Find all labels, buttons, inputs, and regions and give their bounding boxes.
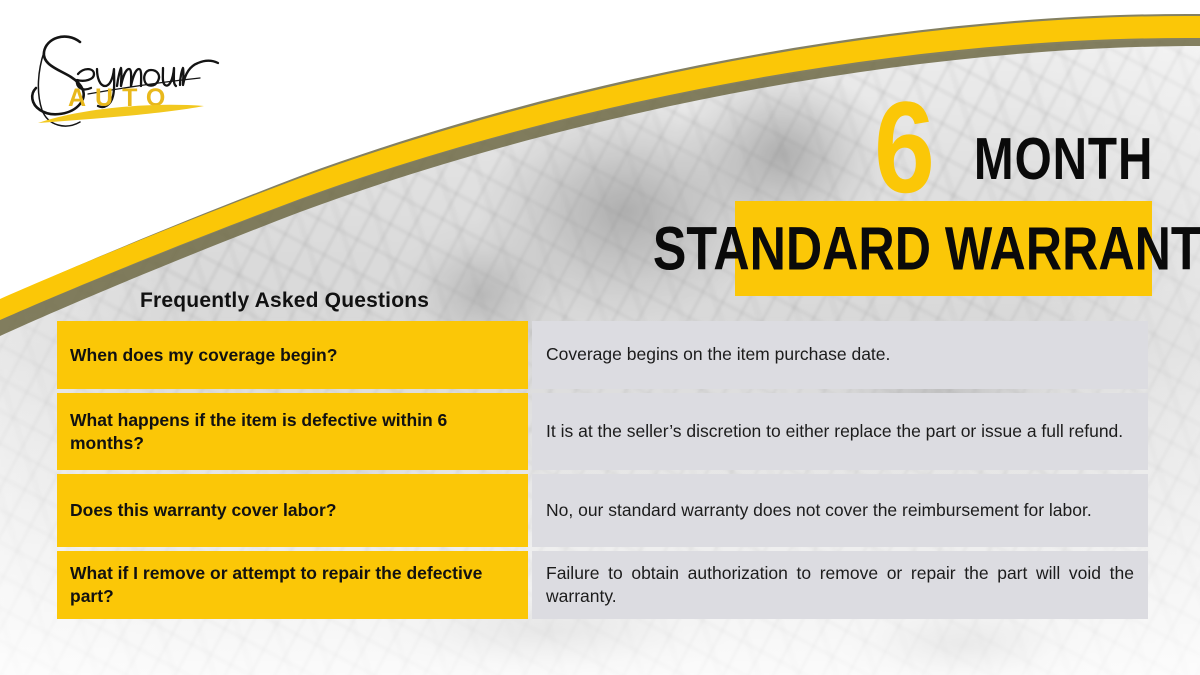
duration-number: 6 xyxy=(874,95,932,199)
standard-warranty-banner: STANDARD WARRANTY xyxy=(735,201,1152,296)
faq-answer-text: Failure to obtain authorization to remov… xyxy=(546,562,1134,608)
seymour-auto-logo[interactable]: AUTO xyxy=(22,22,232,134)
faq-table: When does my coverage begin? Coverage be… xyxy=(57,321,1148,619)
faq-question-cell: Does this warranty cover labor? xyxy=(57,474,528,547)
faq-answer-text: No, our standard warranty does not cover… xyxy=(546,499,1134,522)
table-row: When does my coverage begin? Coverage be… xyxy=(57,321,1148,389)
table-row: What happens if the item is defective wi… xyxy=(57,393,1148,470)
faq-question-text: Does this warranty cover labor? xyxy=(70,499,336,522)
faq-answer-cell: It is at the seller’s discretion to eith… xyxy=(532,393,1148,470)
faq-question-cell: What if I remove or attempt to repair th… xyxy=(57,551,528,619)
faq-answer-cell: Failure to obtain authorization to remov… xyxy=(532,551,1148,619)
faq-heading: Frequently Asked Questions xyxy=(140,289,429,313)
duration-line: 6 MONTH xyxy=(735,78,1155,193)
faq-question-text: What happens if the item is defective wi… xyxy=(70,409,514,455)
warranty-headline: 6 MONTH STANDARD WARRANTY xyxy=(735,78,1155,303)
logo-artwork: AUTO xyxy=(22,22,232,134)
table-row: What if I remove or attempt to repair th… xyxy=(57,551,1148,619)
faq-question-text: What if I remove or attempt to repair th… xyxy=(70,562,514,608)
standard-warranty-text: STANDARD WARRANTY xyxy=(652,218,1200,280)
faq-answer-cell: No, our standard warranty does not cover… xyxy=(532,474,1148,547)
faq-answer-cell: Coverage begins on the item purchase dat… xyxy=(532,321,1148,389)
faq-question-text: When does my coverage begin? xyxy=(70,344,337,367)
warranty-slide: AUTO 6 MONTH STANDARD WARRANTY Frequentl… xyxy=(0,0,1200,675)
duration-unit: MONTH xyxy=(974,134,1153,187)
faq-question-cell: When does my coverage begin? xyxy=(57,321,528,389)
faq-question-cell: What happens if the item is defective wi… xyxy=(57,393,528,470)
faq-answer-text: Coverage begins on the item purchase dat… xyxy=(546,343,1134,366)
table-row: Does this warranty cover labor? No, our … xyxy=(57,474,1148,547)
faq-answer-text: It is at the seller’s discretion to eith… xyxy=(546,420,1134,443)
